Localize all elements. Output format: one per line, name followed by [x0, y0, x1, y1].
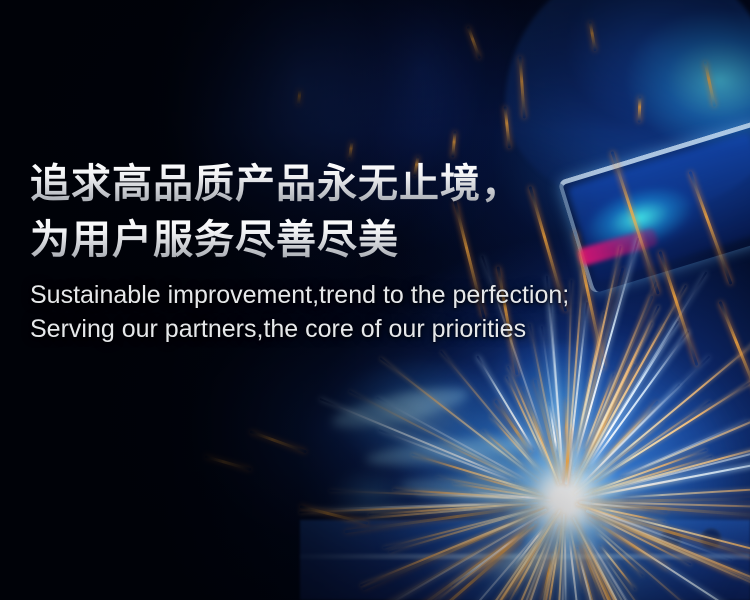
hero-banner: 追求高品质产品永无止境， 为用户服务尽善尽美 Sustainable impro…: [0, 0, 750, 600]
slogan-subline-line-2: Serving our partners,the core of our pri…: [30, 312, 720, 346]
slogan-headline-line-1: 追求高品质产品永无止境，: [30, 156, 720, 212]
slogan-subline-line-1: Sustainable improvement,trend to the per…: [30, 278, 720, 312]
slogan-headline-line-2: 为用户服务尽善尽美: [30, 212, 720, 268]
slogan-block: 追求高品质产品永无止境， 为用户服务尽善尽美 Sustainable impro…: [30, 156, 720, 346]
